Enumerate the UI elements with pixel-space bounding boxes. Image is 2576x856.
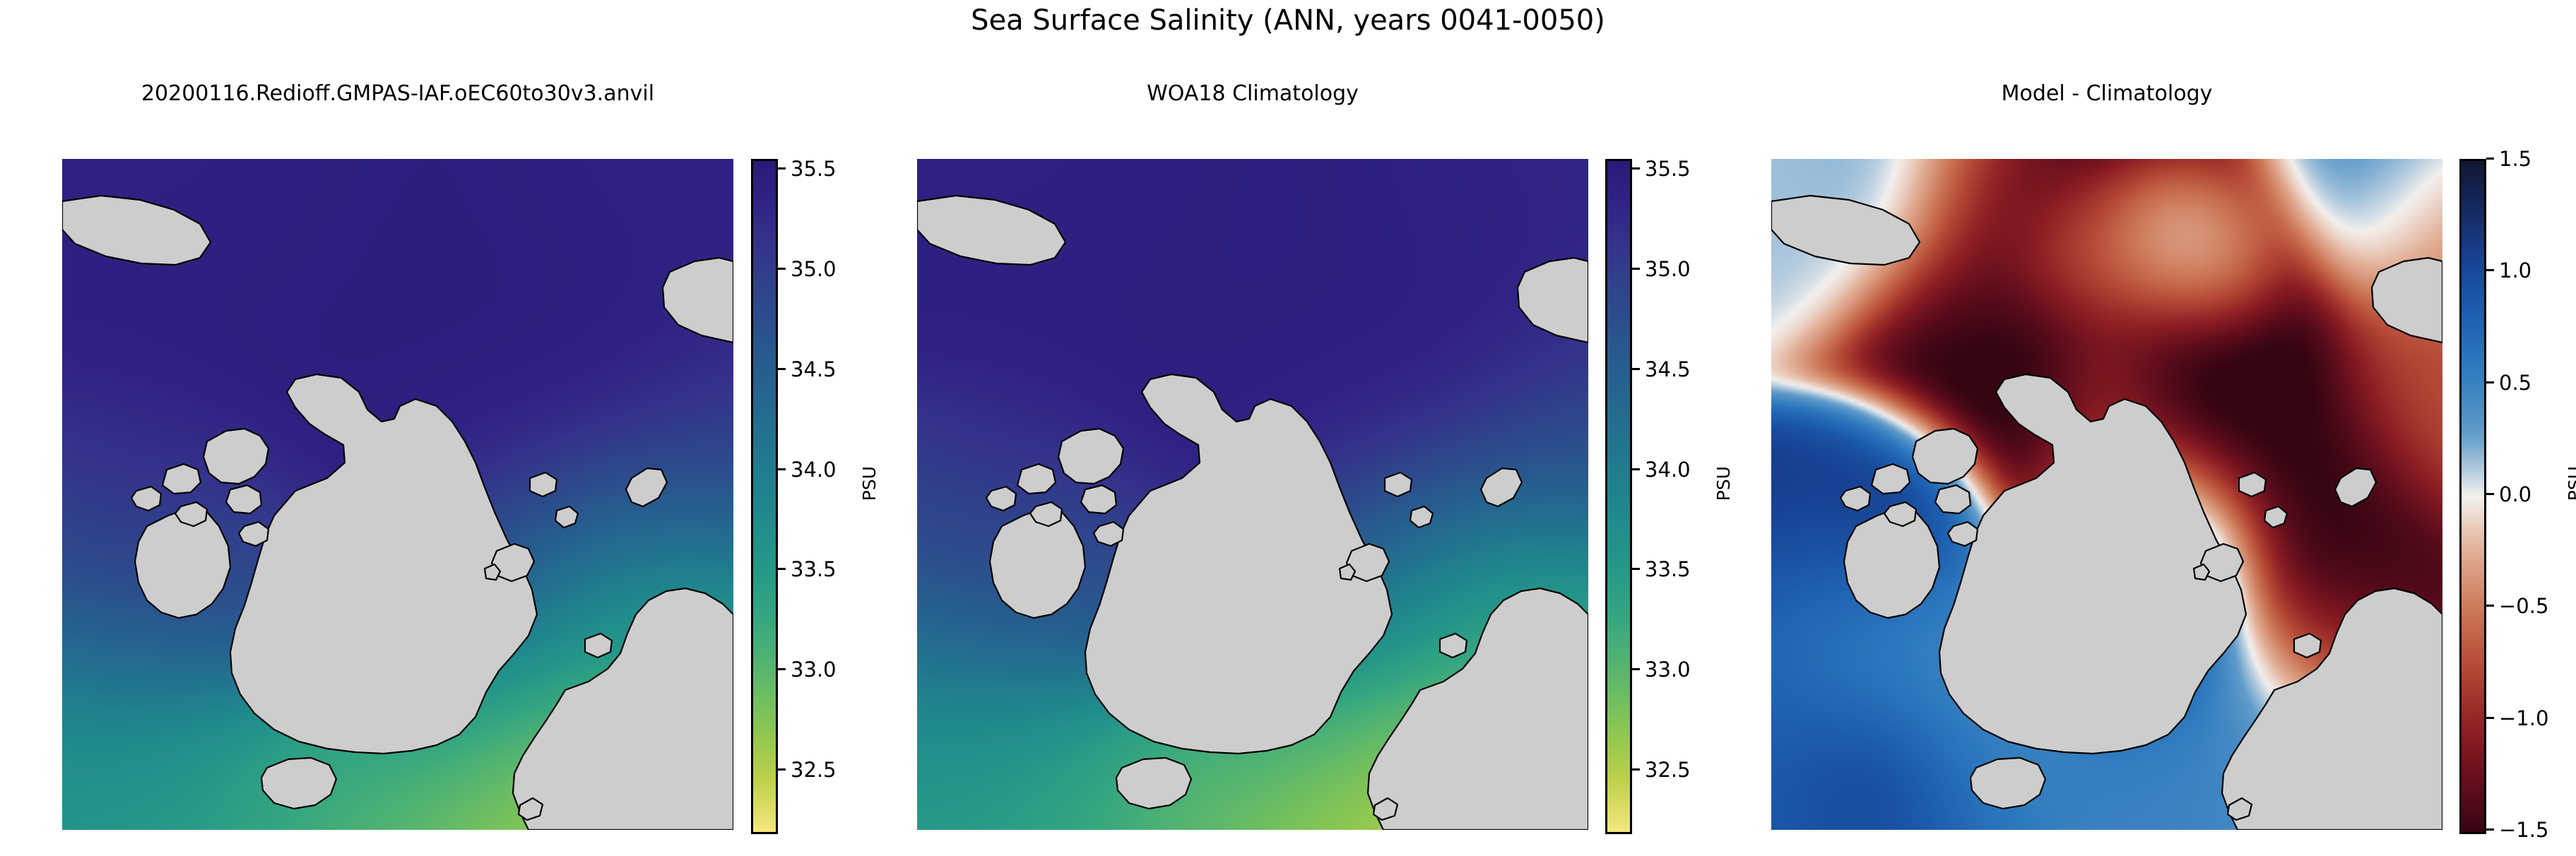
- colorbar-difference-ticks: −1.5−1.0−0.50.00.51.01.5: [2486, 159, 2576, 830]
- tick-mark: [778, 468, 786, 470]
- tick-label: 1.0: [2499, 256, 2531, 285]
- panel-title-difference: Model - Climatology: [1771, 81, 2442, 106]
- tick-mark: [778, 568, 786, 570]
- tick-label: 33.5: [1645, 555, 1691, 583]
- tick-mark: [2486, 717, 2494, 719]
- tick-label: 33.0: [791, 655, 837, 684]
- colorbar-difference: [2459, 159, 2486, 834]
- landmass-archipelago-isle-b: [1081, 485, 1116, 513]
- figure-suptitle: Sea Surface Salinity (ANN, years 0041-00…: [0, 4, 2576, 37]
- tick-label: 32.5: [791, 756, 837, 784]
- tick-mark: [2486, 493, 2494, 495]
- tick-mark: [1632, 768, 1640, 771]
- tick-label: −1.5: [2499, 816, 2548, 844]
- tick-label: −1.0: [2499, 704, 2548, 732]
- tick-mark: [1632, 368, 1640, 370]
- model-salinity-map: [62, 159, 733, 830]
- tick-label: 33.0: [1645, 655, 1691, 684]
- colorbar-difference-unit: PSU: [2565, 466, 2576, 501]
- difference-salinity-map: [1771, 159, 2442, 830]
- tick-label: 34.5: [791, 355, 837, 384]
- landmass-archipelago-isle-b: [226, 485, 261, 513]
- colorbar-model-gradient: [753, 161, 776, 832]
- map-panel-climatology[interactable]: [917, 159, 1588, 830]
- map-panel-model[interactable]: [62, 159, 733, 830]
- tick-mark: [778, 668, 786, 670]
- tick-mark: [778, 768, 786, 771]
- tick-label: 34.0: [791, 456, 837, 484]
- colorbar-climatology: [1605, 159, 1632, 834]
- tick-mark: [778, 368, 786, 370]
- tick-mark: [1632, 167, 1640, 170]
- tick-mark: [2486, 605, 2494, 607]
- tick-label: 35.0: [791, 255, 837, 283]
- map-panel-difference[interactable]: [1771, 159, 2442, 830]
- tick-mark: [2486, 828, 2494, 831]
- tick-mark: [1632, 668, 1640, 670]
- panel-title-climatology: WOA18 Climatology: [917, 81, 1588, 106]
- tick-label: 0.0: [2499, 480, 2531, 509]
- colorbar-model-unit: PSU: [859, 466, 880, 501]
- tick-mark: [1632, 568, 1640, 570]
- tick-mark: [2486, 269, 2494, 271]
- tick-mark: [1632, 268, 1640, 270]
- tick-label: 35.5: [791, 155, 837, 183]
- tick-label: −0.5: [2499, 592, 2548, 620]
- colorbar-climatology-ticks: 32.533.033.534.034.535.035.5: [1632, 159, 1759, 830]
- tick-mark: [778, 167, 786, 170]
- landmass-archipelago-isle-b: [1935, 485, 1971, 513]
- colorbar-difference-gradient: [2462, 161, 2484, 832]
- tick-label: 34.5: [1645, 355, 1691, 384]
- colorbar-model-ticks: 32.533.033.534.034.535.035.5: [778, 159, 905, 830]
- tick-label: 1.5: [2499, 145, 2531, 173]
- tick-mark: [2486, 157, 2494, 160]
- tick-label: 35.5: [1645, 155, 1691, 183]
- tick-label: 35.0: [1645, 255, 1691, 283]
- tick-mark: [2486, 381, 2494, 384]
- tick-mark: [1632, 468, 1640, 470]
- colorbar-climatology-unit: PSU: [1713, 466, 1734, 501]
- climatology-salinity-map: [917, 159, 1588, 830]
- tick-label: 34.0: [1645, 456, 1691, 484]
- tick-mark: [778, 268, 786, 270]
- figure-canvas: Sea Surface Salinity (ANN, years 0041-00…: [0, 0, 2576, 856]
- tick-label: 32.5: [1645, 756, 1691, 784]
- tick-label: 0.5: [2499, 369, 2531, 397]
- panel-title-model: 20200116.Redioff.GMPAS-IAF.oEC60to30v3.a…: [62, 81, 733, 106]
- colorbar-climatology-gradient: [1607, 161, 1630, 832]
- colorbar-model: [751, 159, 778, 834]
- tick-label: 33.5: [791, 555, 837, 583]
